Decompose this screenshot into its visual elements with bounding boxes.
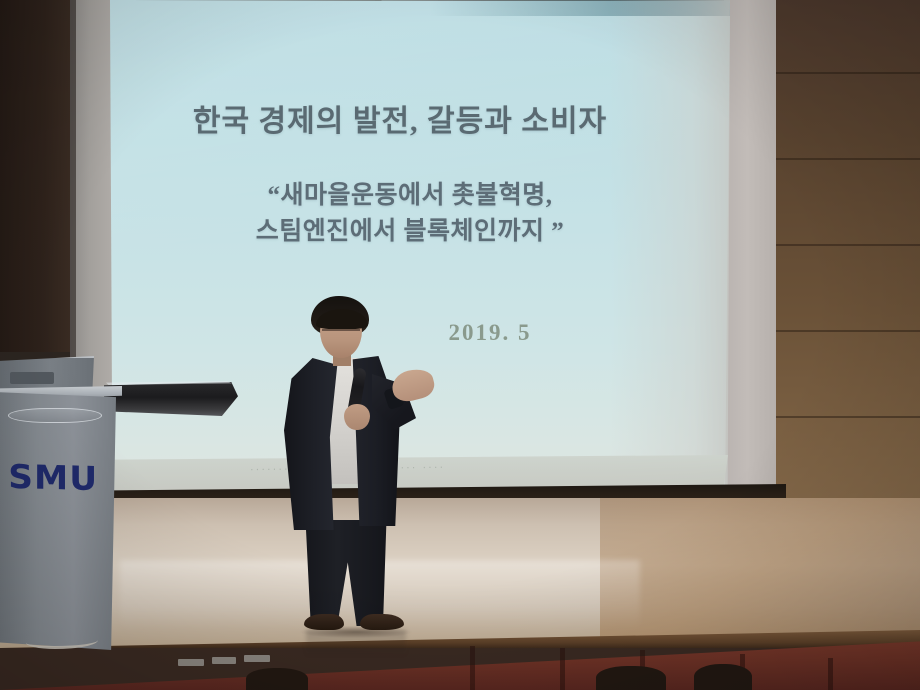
wall-panel-line xyxy=(776,244,920,246)
stage-floor-warm-wash xyxy=(600,498,920,648)
slide-title: 한국 경제의 발전, 갈등과 소비자 xyxy=(110,96,690,140)
floor-marker-tape xyxy=(212,657,236,664)
speaker-floor-reflection xyxy=(306,630,406,656)
podium-monitor-arm xyxy=(104,382,238,416)
speaker-left-hand xyxy=(344,404,370,430)
seat-divider xyxy=(560,648,565,690)
wall-panel-line xyxy=(776,330,920,332)
slide-subtitle-line-2: 스팀엔진에서 블록체인까지 ” xyxy=(150,214,670,250)
slide-subtitle-line-1: “새마을운동에서 촛불혁명, xyxy=(150,178,670,214)
right-pillar xyxy=(724,0,782,556)
wall-panel-line xyxy=(776,72,920,74)
floor-marker-tape xyxy=(178,659,204,666)
speaker-right-shoe xyxy=(360,614,404,630)
speaker-trousers xyxy=(302,520,390,626)
lecture-photo: 한국 경제의 발전, 갈등과 소비자 “새마을운동에서 촛불혁명, 스팀엔진에서… xyxy=(0,0,920,690)
podium-handle xyxy=(8,408,102,423)
slide-subtitle: “새마을운동에서 촛불혁명, 스팀엔진에서 블록체인까지 ” xyxy=(150,178,670,251)
speaker-glasses xyxy=(322,329,360,339)
seat-divider xyxy=(470,646,475,690)
speaker-left-shoe xyxy=(304,614,344,630)
wall-panel-line xyxy=(776,416,920,418)
audience-head-silhouette xyxy=(246,668,308,690)
right-wood-wall xyxy=(776,0,920,566)
podium-smu-logo: SMU xyxy=(8,457,98,498)
floor-marker-tape xyxy=(244,655,270,662)
wall-panel-line xyxy=(776,158,920,160)
audience-head-silhouette xyxy=(694,664,752,690)
speaker-figure xyxy=(276,296,446,636)
podium xyxy=(0,392,116,650)
podium-laptop-notch xyxy=(10,372,54,384)
seat-divider xyxy=(828,658,833,690)
audience-head-silhouette xyxy=(596,666,666,690)
